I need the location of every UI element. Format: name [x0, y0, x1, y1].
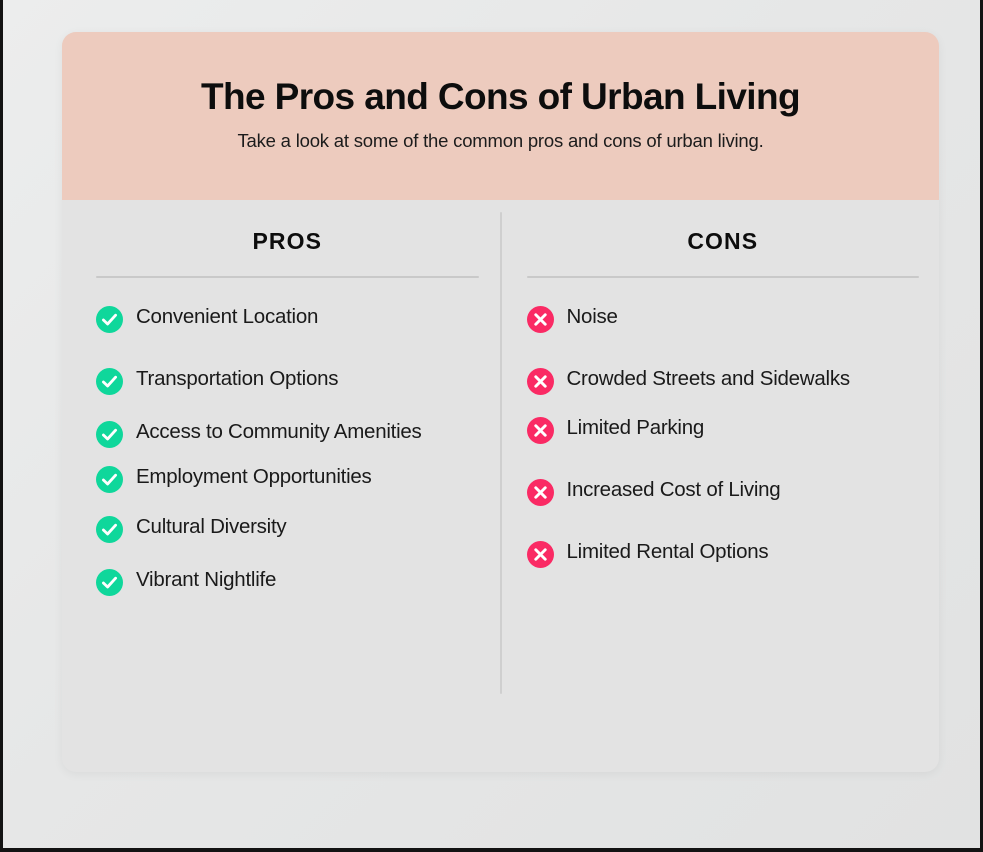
- list-item-label: Access to Community Amenities: [136, 417, 422, 446]
- list-item: Crowded Streets and Sidewalks: [527, 364, 920, 395]
- list-item: Increased Cost of Living: [527, 475, 920, 506]
- check-circle-icon: [96, 466, 123, 493]
- card-body: PROS Convenient LocationTransportation O…: [62, 200, 939, 772]
- check-circle-icon: [96, 569, 123, 596]
- list-item: Cultural Diversity: [96, 512, 479, 543]
- page-title: The Pros and Cons of Urban Living: [62, 76, 939, 117]
- pros-list: Convenient LocationTransportation Option…: [96, 302, 479, 596]
- list-item: Convenient Location: [96, 302, 479, 333]
- cons-column-title: CONS: [527, 228, 920, 255]
- window-frame-left-edge: [0, 0, 3, 852]
- list-item-label: Crowded Streets and Sidewalks: [567, 364, 850, 393]
- card-header: The Pros and Cons of Urban Living Take a…: [62, 32, 939, 200]
- list-item-label: Cultural Diversity: [136, 512, 286, 541]
- list-item-label: Vibrant Nightlife: [136, 565, 276, 594]
- list-item: Access to Community Amenities: [96, 417, 479, 448]
- list-item-label: Limited Rental Options: [567, 537, 769, 566]
- window-frame-bottom-edge: [0, 848, 983, 852]
- page-subtitle: Take a look at some of the common pros a…: [62, 130, 939, 152]
- x-circle-icon: [527, 306, 554, 333]
- cons-column-rule: [527, 276, 920, 278]
- list-item-label: Limited Parking: [567, 413, 705, 442]
- list-item-label: Transportation Options: [136, 364, 338, 393]
- pros-column: PROS Convenient LocationTransportation O…: [62, 200, 501, 772]
- list-item: Transportation Options: [96, 364, 479, 395]
- cons-list: NoiseCrowded Streets and SidewalksLimite…: [527, 302, 920, 568]
- pros-column-title: PROS: [96, 228, 479, 255]
- list-item: Noise: [527, 302, 920, 333]
- list-item-label: Employment Opportunities: [136, 462, 372, 491]
- check-circle-icon: [96, 306, 123, 333]
- check-circle-icon: [96, 516, 123, 543]
- list-item-label: Increased Cost of Living: [567, 475, 781, 504]
- list-item: Limited Parking: [527, 413, 920, 444]
- check-circle-icon: [96, 368, 123, 395]
- list-item: Limited Rental Options: [527, 537, 920, 568]
- page-canvas: The Pros and Cons of Urban Living Take a…: [3, 0, 980, 848]
- pros-column-rule: [96, 276, 479, 278]
- check-circle-icon: [96, 421, 123, 448]
- list-item-label: Convenient Location: [136, 302, 318, 331]
- x-circle-icon: [527, 368, 554, 395]
- list-item: Employment Opportunities: [96, 462, 479, 493]
- x-circle-icon: [527, 417, 554, 444]
- list-item: Vibrant Nightlife: [96, 565, 479, 596]
- x-circle-icon: [527, 541, 554, 568]
- x-circle-icon: [527, 479, 554, 506]
- cons-column: CONS NoiseCrowded Streets and SidewalksL…: [501, 200, 940, 772]
- pros-cons-card: The Pros and Cons of Urban Living Take a…: [62, 32, 939, 772]
- list-item-label: Noise: [567, 302, 618, 331]
